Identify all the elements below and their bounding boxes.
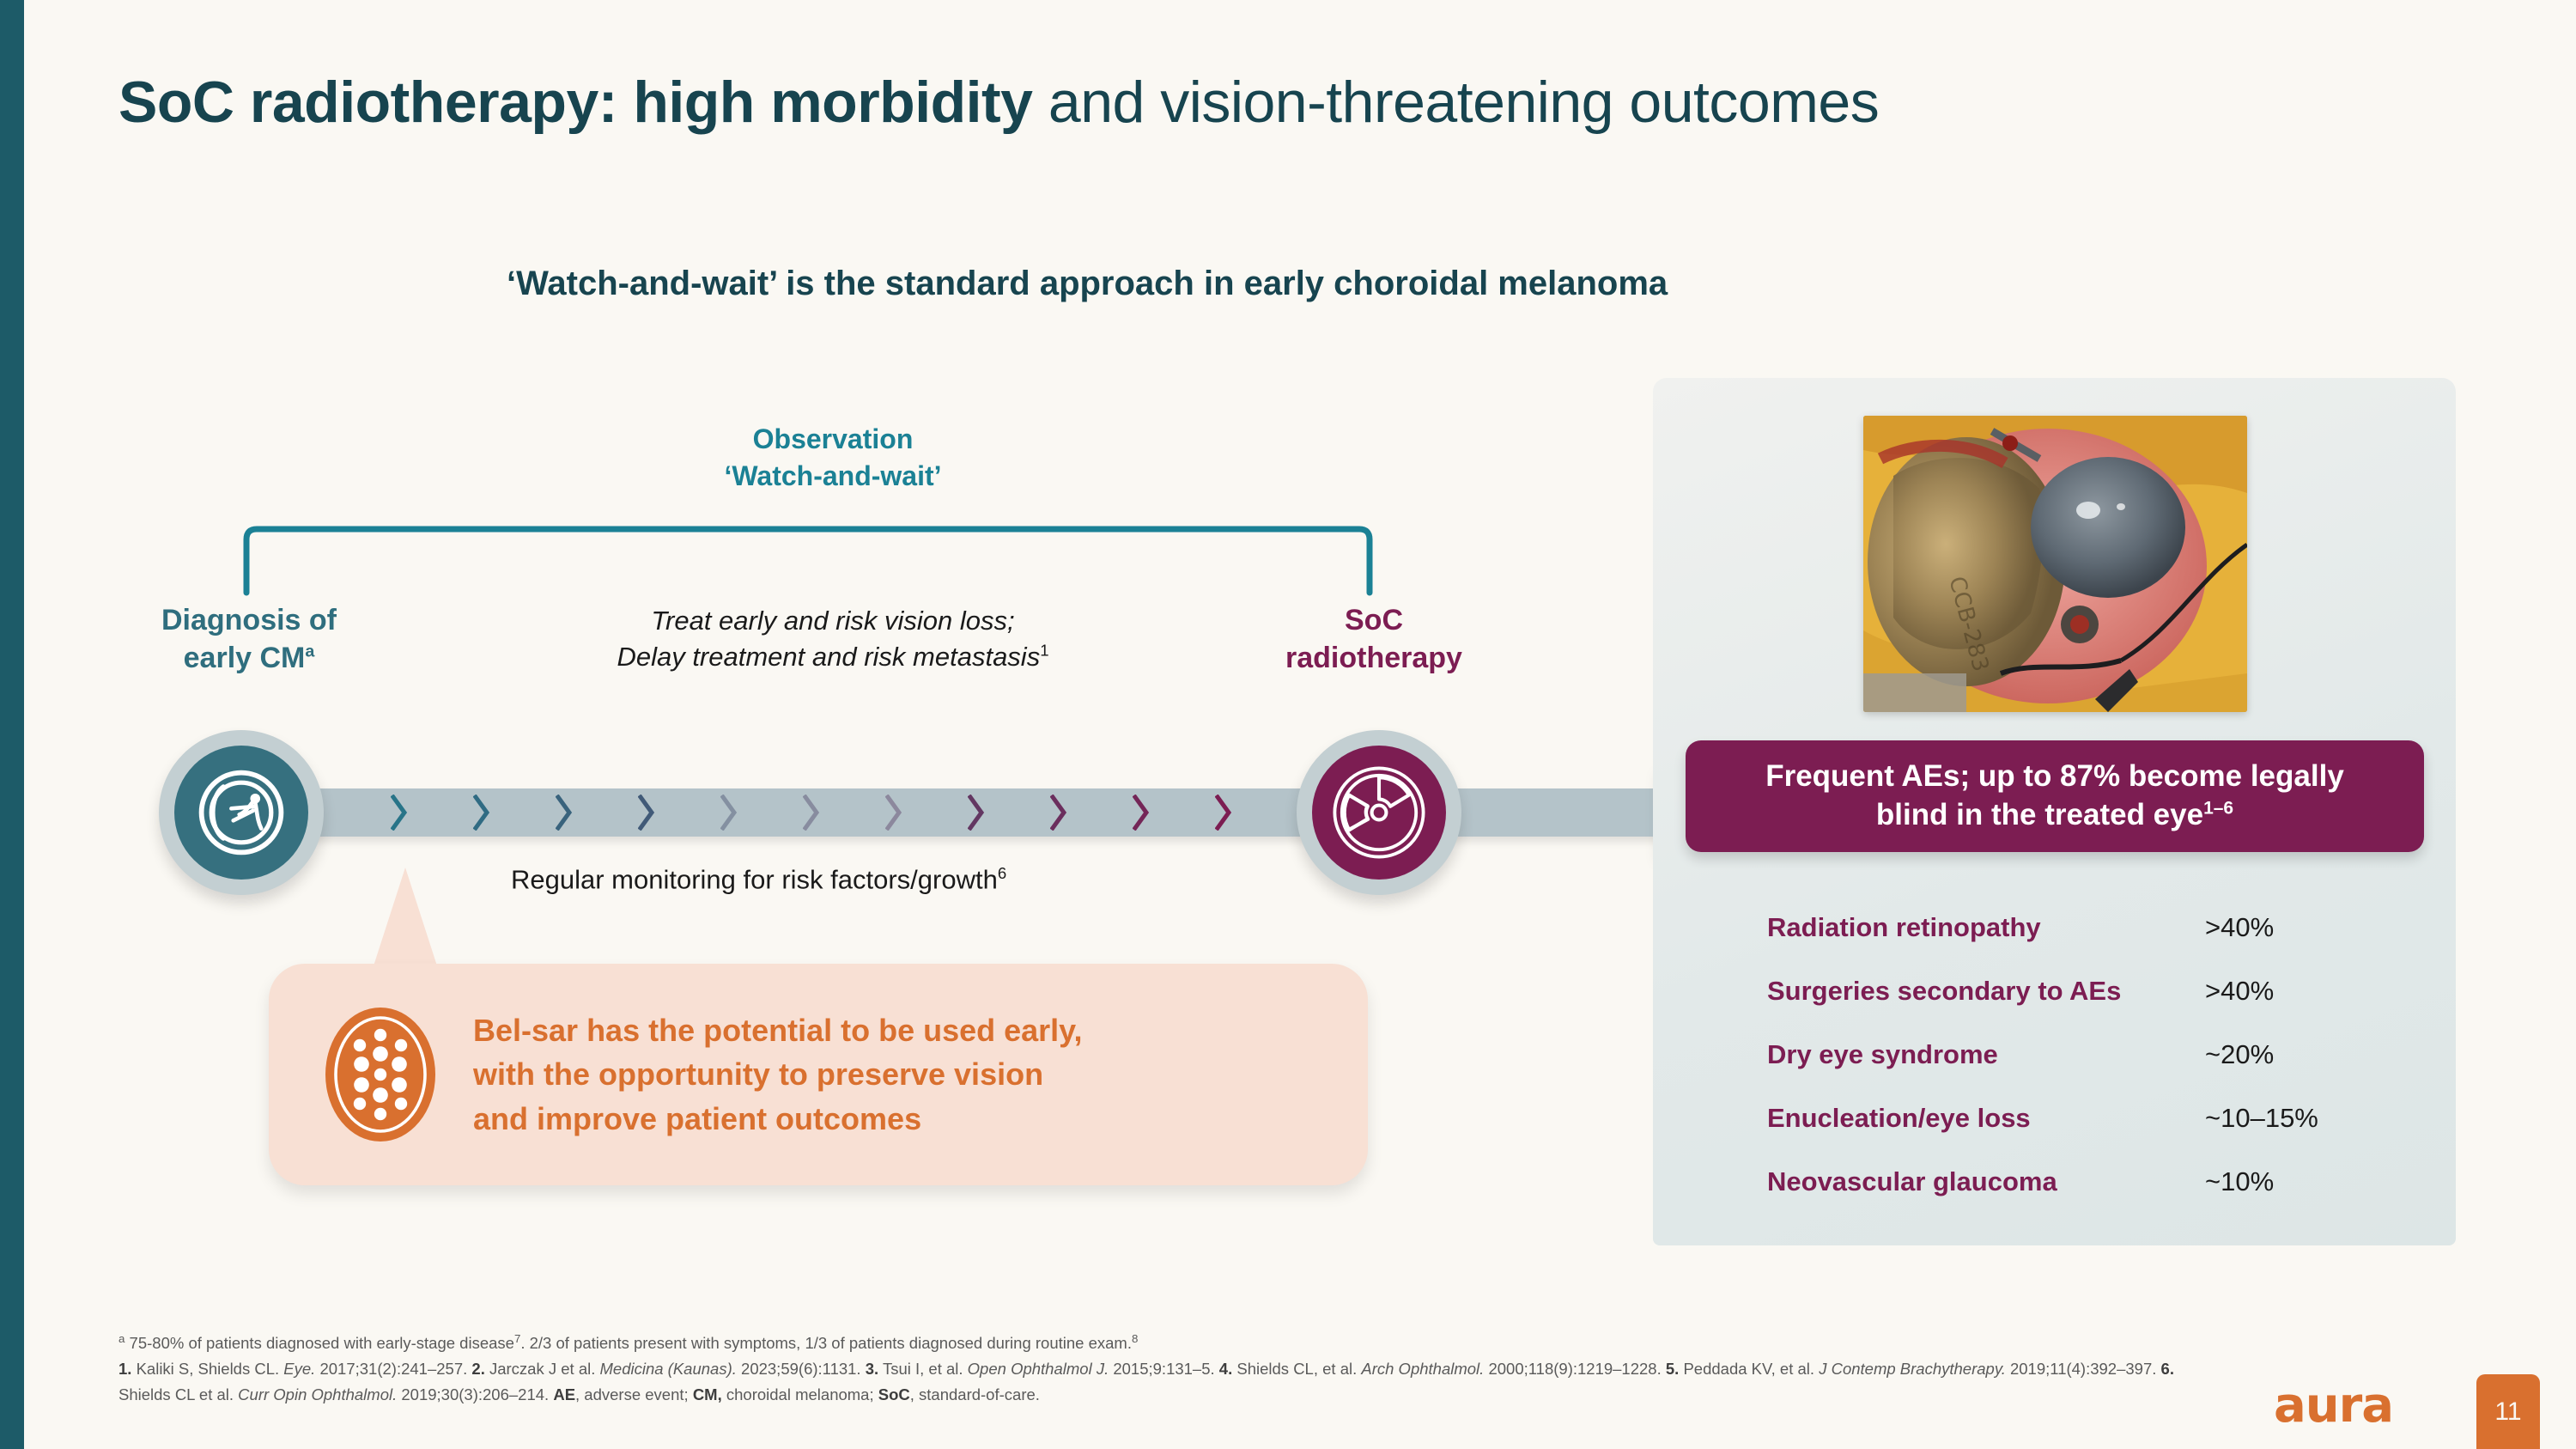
surgical-photo: CCB-283 [1863, 416, 2247, 712]
reference-journal: Arch Ophthalmol. [1361, 1360, 1484, 1378]
radiotherapy-node-inner [1312, 746, 1446, 880]
timeline-chevron [885, 795, 902, 831]
observation-label: Observation ‘Watch-and-wait’ [567, 421, 1099, 495]
ae-name: Radiation retinopathy [1767, 912, 2205, 943]
ae-name: Enucleation/eye loss [1767, 1103, 2205, 1134]
ae-banner: Frequent AEs; up to 87% become legally b… [1686, 740, 2424, 852]
timeline-chevron [556, 795, 573, 831]
reference-number: 6. [2161, 1360, 2174, 1378]
ae-value: ~10% [2205, 1166, 2274, 1197]
abbrev-cm-definition: choroidal melanoma; [722, 1385, 878, 1403]
footnotes: a 75-80% of patients diagnosed with earl… [118, 1330, 2205, 1408]
reference-journal: Eye. [283, 1360, 315, 1378]
reference-journal: Open Ophthalmol J. [968, 1360, 1109, 1378]
radiation-icon [1327, 761, 1431, 864]
middle-note-line1: Treat early and risk vision loss; [515, 603, 1151, 639]
ae-table: Radiation retinopathy>40%Surgeries secon… [1767, 912, 2420, 1230]
ae-row: Dry eye syndrome~20% [1767, 1039, 2420, 1103]
page-number-badge: 11 [2476, 1374, 2540, 1449]
timeline-chevron [720, 795, 738, 831]
surgical-photo-illustration: CCB-283 [1863, 416, 2247, 712]
ae-value: ~10–15% [2205, 1103, 2318, 1134]
timeline-chevron [968, 795, 985, 831]
timeline-chevron [473, 795, 490, 831]
callout-line1: Bel-sar has the potential to be used ear… [473, 1008, 1083, 1052]
ae-banner-line2: blind in the treated eye [1876, 798, 2203, 831]
diagnosis-label-line2: early CMa [103, 639, 395, 677]
footnote-a: a 75-80% of patients diagnosed with earl… [118, 1330, 2205, 1356]
diagnosis-node[interactable] [159, 730, 324, 895]
callout-icon-wrap [324, 1006, 437, 1143]
ae-banner-text: Frequent AEs; up to 87% become legally b… [1765, 758, 2344, 835]
reference-number: 5. [1666, 1360, 1679, 1378]
ae-value: ~20% [2205, 1039, 2274, 1070]
soc-label-line1: SoC [1228, 601, 1520, 639]
reference-authors: Tsui I, et al. [878, 1360, 968, 1378]
reference-number: 3. [866, 1360, 878, 1378]
reference-journal: J Contemp Brachytherapy. [1819, 1360, 2006, 1378]
reference-citation: 2015;9:131–5. [1109, 1360, 1219, 1378]
ae-name: Dry eye syndrome [1767, 1039, 2205, 1070]
timeline-chevron [1133, 795, 1150, 831]
diagnosis-node-inner [174, 746, 308, 880]
ae-row: Enucleation/eye loss~10–15% [1767, 1103, 2420, 1166]
reference-citation: 2017;31(2):241–257. [315, 1360, 471, 1378]
middle-note-line2: Delay treatment and risk metastasis1 [515, 639, 1151, 675]
callout-line2: with the opportunity to preserve vision [473, 1052, 1083, 1096]
callout-line3: and improve patient outcomes [473, 1097, 1083, 1141]
reference-journal: Medicina (Kaunas). [600, 1360, 737, 1378]
reference-citation: 2019;11(4):392–397. [2006, 1360, 2161, 1378]
reference-authors: Kaliki S, Shields CL. [131, 1360, 283, 1378]
page-title: SoC radiotherapy: high morbidity and vis… [118, 70, 1879, 135]
abbrev-soc-term: SoC [878, 1385, 910, 1403]
ae-row: Radiation retinopathy>40% [1767, 912, 2420, 976]
title-light-part: and vision-threatening outcomes [1033, 70, 1880, 135]
reference-citation: 2023;59(6):1131. [737, 1360, 866, 1378]
reference-authors: Shields CL, et al. [1232, 1360, 1361, 1378]
observation-bracket [243, 522, 1373, 596]
timeline-chevron [1215, 795, 1232, 831]
ae-name: Neovascular glaucoma [1767, 1166, 2205, 1197]
observation-label-line1: Observation [567, 421, 1099, 458]
ae-banner-superscript: 1–6 [2203, 798, 2233, 818]
timeline-chevron [391, 795, 408, 831]
soc-node-label: SoC radiotherapy [1228, 601, 1520, 677]
diagnosis-label-superscript: a [305, 642, 314, 661]
ae-value: >40% [2205, 912, 2274, 943]
callout-pointer [369, 868, 441, 979]
abbrev-ae-term: AE [553, 1385, 575, 1403]
footnote-a-ref2: 8 [1132, 1332, 1138, 1345]
reference-number: 2. [471, 1360, 484, 1378]
ae-row: Neovascular glaucoma~10% [1767, 1166, 2420, 1230]
abbrev-soc-definition: , standard-of-care. [910, 1385, 1040, 1403]
page-subtitle: ‘Watch-and-wait’ is the standard approac… [507, 265, 1668, 303]
reference-journal: Curr Opin Ophthalmol. [238, 1385, 397, 1403]
reference-authors: Shields CL et al. [118, 1385, 238, 1403]
diagnosis-label-line1: Diagnosis of [103, 601, 395, 639]
timeline-bar [309, 788, 1683, 837]
abbrev-ae-definition: , adverse event; [575, 1385, 693, 1403]
observation-label-line2: ‘Watch-and-wait’ [567, 458, 1099, 495]
radiotherapy-node[interactable] [1297, 730, 1461, 895]
diagnosis-node-label: Diagnosis of early CMa [103, 601, 395, 677]
reference-authors: Jarczak J et al. [485, 1360, 600, 1378]
slide-canvas: SoC radiotherapy: high morbidity and vis… [0, 0, 2576, 1449]
molecule-icon [324, 1006, 437, 1143]
bel-sar-callout: Bel-sar has the potential to be used ear… [269, 964, 1368, 1185]
aura-logo: aura [2274, 1378, 2393, 1434]
timeline-middle-note: Treat early and risk vision loss; Delay … [515, 603, 1151, 675]
ae-value: >40% [2205, 976, 2274, 1007]
monitoring-note: Regular monitoring for risk factors/grow… [511, 864, 1006, 895]
timeline-chevron [1050, 795, 1067, 831]
title-bold-part: SoC radiotherapy: high morbidity [118, 70, 1033, 135]
monitoring-note-superscript: 6 [998, 864, 1006, 882]
soc-label-line2: radiotherapy [1228, 639, 1520, 677]
ae-name: Surgeries secondary to AEs [1767, 976, 2205, 1007]
eye-icon [191, 763, 291, 862]
timeline-chevron [638, 795, 655, 831]
footnote-a-text2: . 2/3 of patients present with symptoms,… [520, 1334, 1132, 1352]
left-accent-strip [0, 0, 24, 1449]
footnote-a-text1: 75-80% of patients diagnosed with early-… [125, 1334, 514, 1352]
middle-note-superscript: 1 [1040, 642, 1048, 660]
callout-text: Bel-sar has the potential to be used ear… [473, 1008, 1083, 1140]
reference-list: 1. Kaliki S, Shields CL. Eye. 2017;31(2)… [118, 1356, 2205, 1408]
abbrev-cm-term: CM, [693, 1385, 722, 1403]
ae-banner-line1: Frequent AEs; up to 87% become legally [1765, 759, 2344, 793]
reference-citation: 2000;118(9):1219–1228. [1484, 1360, 1666, 1378]
reference-citation: 2019;30(3):206–214. [397, 1385, 553, 1403]
reference-number: 1. [118, 1360, 131, 1378]
reference-authors: Peddada KV, et al. [1679, 1360, 1819, 1378]
timeline-chevron [803, 795, 820, 831]
ae-row: Surgeries secondary to AEs>40% [1767, 976, 2420, 1039]
reference-number: 4. [1219, 1360, 1232, 1378]
